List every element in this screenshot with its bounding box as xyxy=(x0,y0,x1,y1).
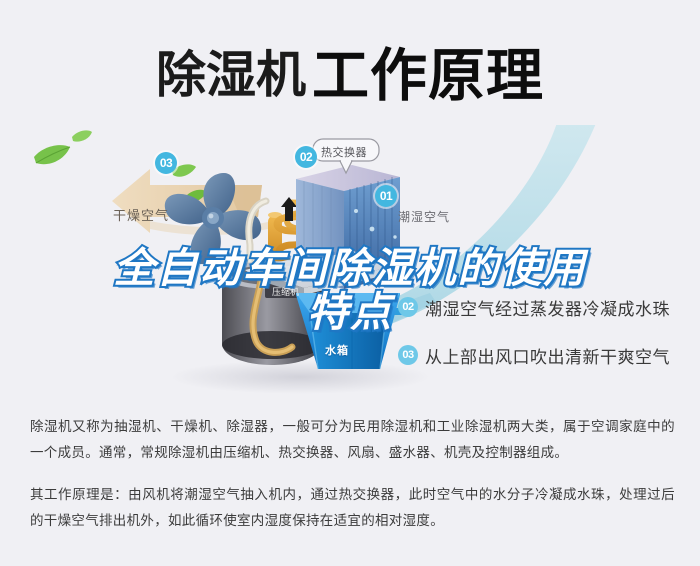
label-compressor: 压缩机 xyxy=(272,285,299,298)
page-title: 除湿机工作原理 xyxy=(0,30,700,112)
diagram-badge-01: 01 xyxy=(375,185,397,207)
body-paragraph-1: 除湿机又称为抽湿机、干燥机、除湿器，一般可分为民用除湿机和工业除湿机两大类，属于… xyxy=(30,414,675,466)
diagram-badge-03: 03 xyxy=(155,152,177,174)
legend-item-02: 02 潮湿空气经过蒸发器冷凝成水珠 xyxy=(398,292,693,322)
label-dry-air: 干燥空气 xyxy=(113,205,169,224)
legend-badge-02: 02 xyxy=(398,297,418,317)
legend-item-03: 03 从上部出风口吹出清新干爽空气 xyxy=(398,340,693,370)
label-humid-air: 潮湿空气 xyxy=(398,208,450,225)
page-title-part2: 工作原理 xyxy=(312,44,544,108)
legend-text-02: 潮湿空气经过蒸发器冷凝成水珠 xyxy=(425,295,670,320)
body-paragraph-2: 其工作原理是：由风机将潮湿空气抽入机内，通过热交换器，此时空气中的水分子冷凝成水… xyxy=(30,482,675,534)
page-root: 除湿机工作原理 xyxy=(0,0,700,566)
label-water-tank: 水箱 xyxy=(325,342,349,358)
legend-list: 01 由风机将潮湿空气抽入机内 02 潮湿空气经过蒸发器冷凝成水珠 03 从上部… xyxy=(398,292,693,388)
page-title-part1: 除湿机 xyxy=(156,47,306,103)
diagram-badge-02: 02 xyxy=(295,146,317,168)
legend-text-03: 从上部出风口吹出清新干爽空气 xyxy=(425,343,670,368)
label-heat-exchanger: 热交换器 xyxy=(321,144,367,160)
legend-badge-03: 03 xyxy=(398,345,418,365)
body-text-block: 除湿机又称为抽湿机、干燥机、除湿器，一般可分为民用除湿机和工业除湿机两大类，属于… xyxy=(30,414,675,550)
